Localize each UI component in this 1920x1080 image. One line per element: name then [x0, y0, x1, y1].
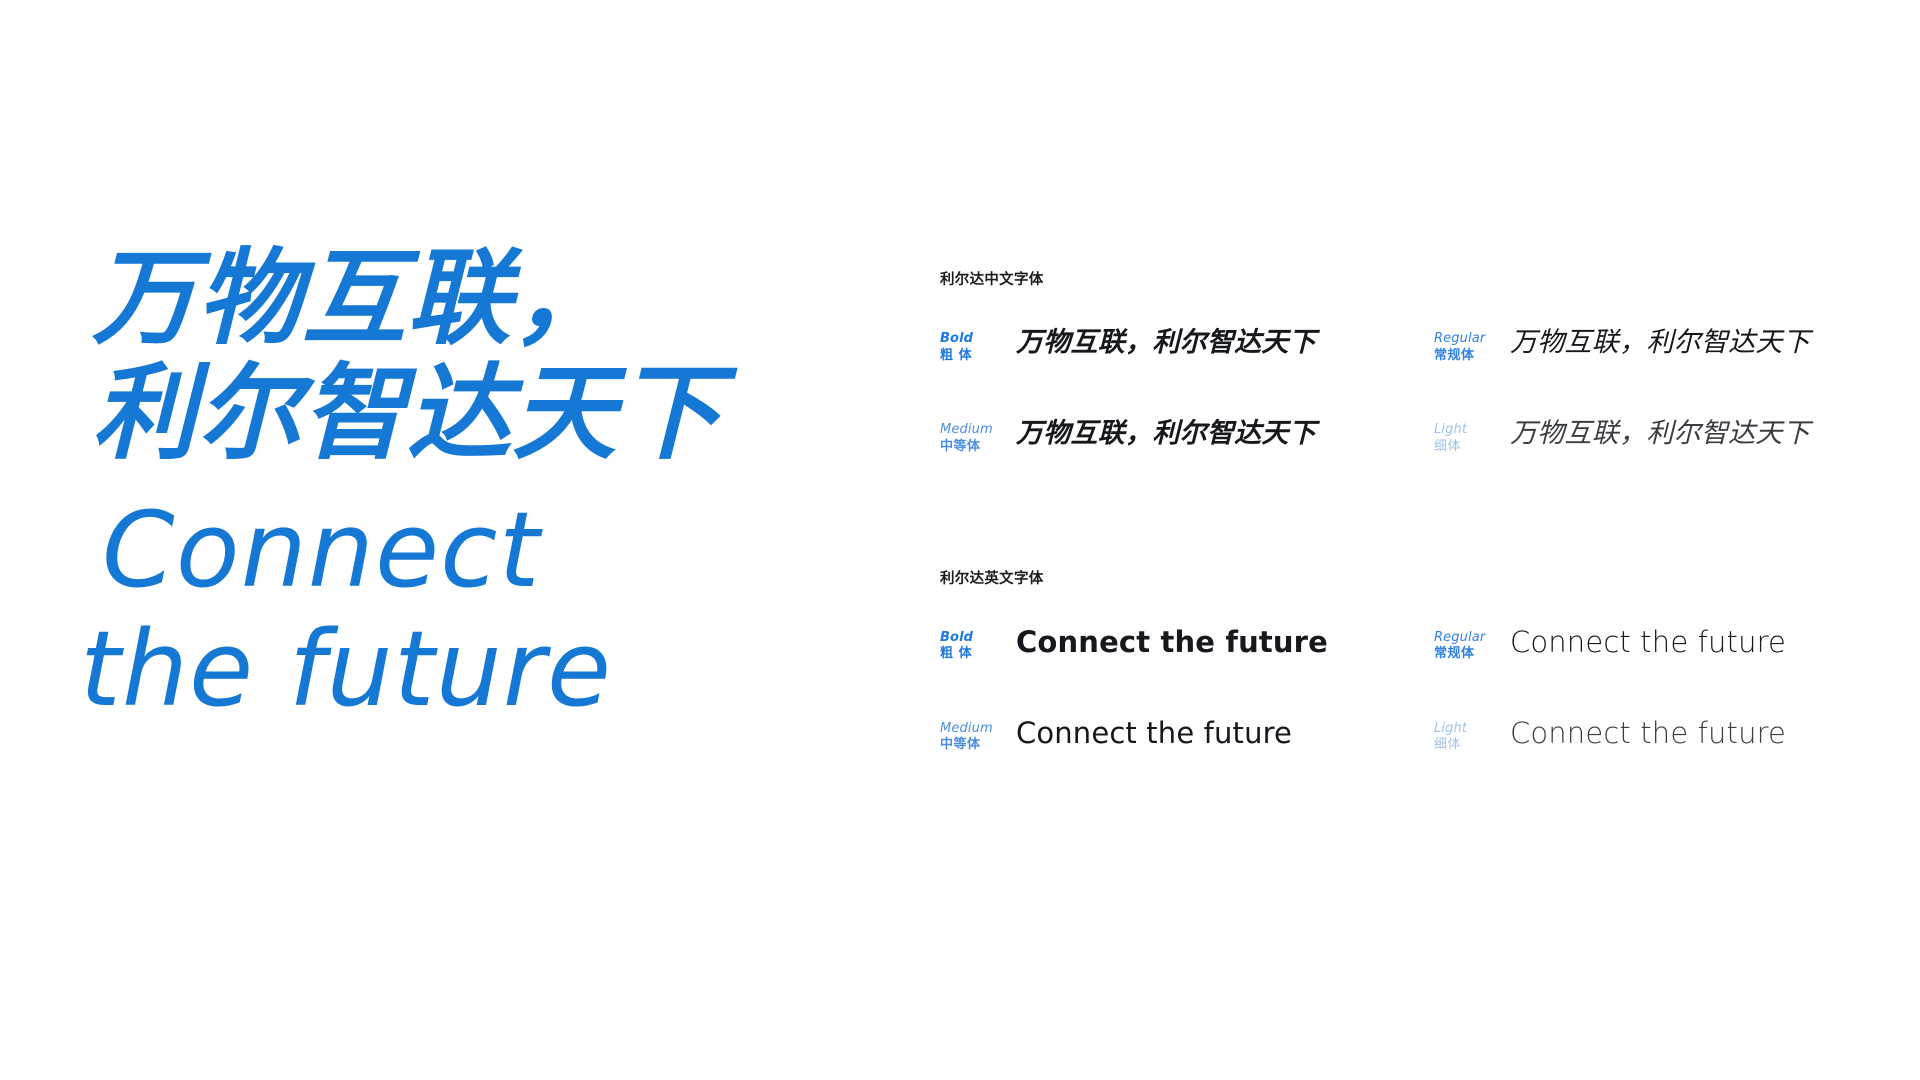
weight-label-cn: 粗 体 — [940, 348, 1002, 365]
specimen-row: Light 细体 Connect the future — [1434, 719, 1870, 754]
weight-label: Regular 常规体 — [1434, 329, 1496, 364]
specimen-row: Bold 粗 体 Connect the future — [940, 628, 1434, 663]
weight-label-en: Medium — [940, 422, 1002, 439]
section-english-typeface: 利尔达英文字体 Bold 粗 体 Connect the future Regu… — [940, 567, 1870, 755]
specimen-row: Regular 常规体 Connect the future — [1434, 628, 1870, 663]
specimen-panel: 利尔达中文字体 Bold 粗 体 万物互联，利尔智达天下 Regular 常规体… — [940, 268, 1870, 754]
weight-label: Light 细体 — [1434, 719, 1496, 754]
weight-label-cn: 常规体 — [1434, 348, 1496, 365]
hero-english-line-2: the future — [80, 610, 852, 729]
hero-chinese-line-1: 万物互联， — [92, 238, 852, 359]
specimen-grid: Bold 粗 体 Connect the future Regular 常规体 … — [940, 628, 1870, 755]
weight-label-en: Light — [1434, 422, 1496, 439]
specimen-row: Regular 常规体 万物互联，利尔智达天下 — [1434, 329, 1870, 364]
weight-label: Regular 常规体 — [1434, 628, 1496, 663]
specimen-sample-text: Connect the future — [1510, 628, 1786, 657]
weight-label-cn: 粗 体 — [940, 646, 1002, 663]
weight-label-en: Light — [1434, 721, 1496, 738]
specimen-sample-text: 万物互联，利尔智达天下 — [1016, 420, 1316, 447]
specimen-row: Bold 粗 体 万物互联，利尔智达天下 — [940, 329, 1434, 364]
weight-label-en: Regular — [1434, 331, 1496, 348]
specimen-sample-text: 万物互联，利尔智达天下 — [1510, 329, 1810, 356]
weight-label-cn: 中等体 — [940, 737, 1002, 754]
weight-label: Bold 粗 体 — [940, 628, 1002, 663]
specimen-sample-text: Connect the future — [1016, 628, 1328, 657]
weight-label-cn: 中等体 — [940, 439, 1002, 456]
hero-chinese-line-2: 利尔智达天下 — [92, 353, 852, 474]
weight-label-en: Bold — [940, 331, 1002, 348]
specimen-row: Medium 中等体 Connect the future — [940, 719, 1434, 754]
weight-label-cn: 细体 — [1434, 439, 1496, 456]
section-chinese-typeface: 利尔达中文字体 Bold 粗 体 万物互联，利尔智达天下 Regular 常规体… — [940, 268, 1870, 456]
hero-lockup: 万物互联， 利尔智达天下 Connect the future — [92, 238, 852, 728]
weight-label-en: Medium — [940, 721, 1002, 738]
weight-label-en: Regular — [1434, 630, 1496, 647]
weight-label-en: Bold — [940, 630, 1002, 647]
weight-label-cn: 细体 — [1434, 737, 1496, 754]
specimen-sample-text: 万物互联，利尔智达天下 — [1510, 420, 1810, 447]
section-title: 利尔达中文字体 — [940, 268, 1870, 289]
weight-label: Light 细体 — [1434, 420, 1496, 455]
specimen-sample-text: Connect the future — [1510, 719, 1786, 748]
specimen-row: Light 细体 万物互联，利尔智达天下 — [1434, 420, 1870, 455]
specimen-row: Medium 中等体 万物互联，利尔智达天下 — [940, 420, 1434, 455]
hero-english-line-1: Connect — [102, 491, 852, 610]
specimen-sample-text: Connect the future — [1016, 719, 1292, 748]
specimen-grid: Bold 粗 体 万物互联，利尔智达天下 Regular 常规体 万物互联，利尔… — [940, 329, 1870, 456]
weight-label: Bold 粗 体 — [940, 329, 1002, 364]
specimen-sample-text: 万物互联，利尔智达天下 — [1016, 329, 1316, 356]
weight-label: Medium 中等体 — [940, 719, 1002, 754]
weight-label: Medium 中等体 — [940, 420, 1002, 455]
weight-label-cn: 常规体 — [1434, 646, 1496, 663]
section-title: 利尔达英文字体 — [940, 567, 1870, 588]
